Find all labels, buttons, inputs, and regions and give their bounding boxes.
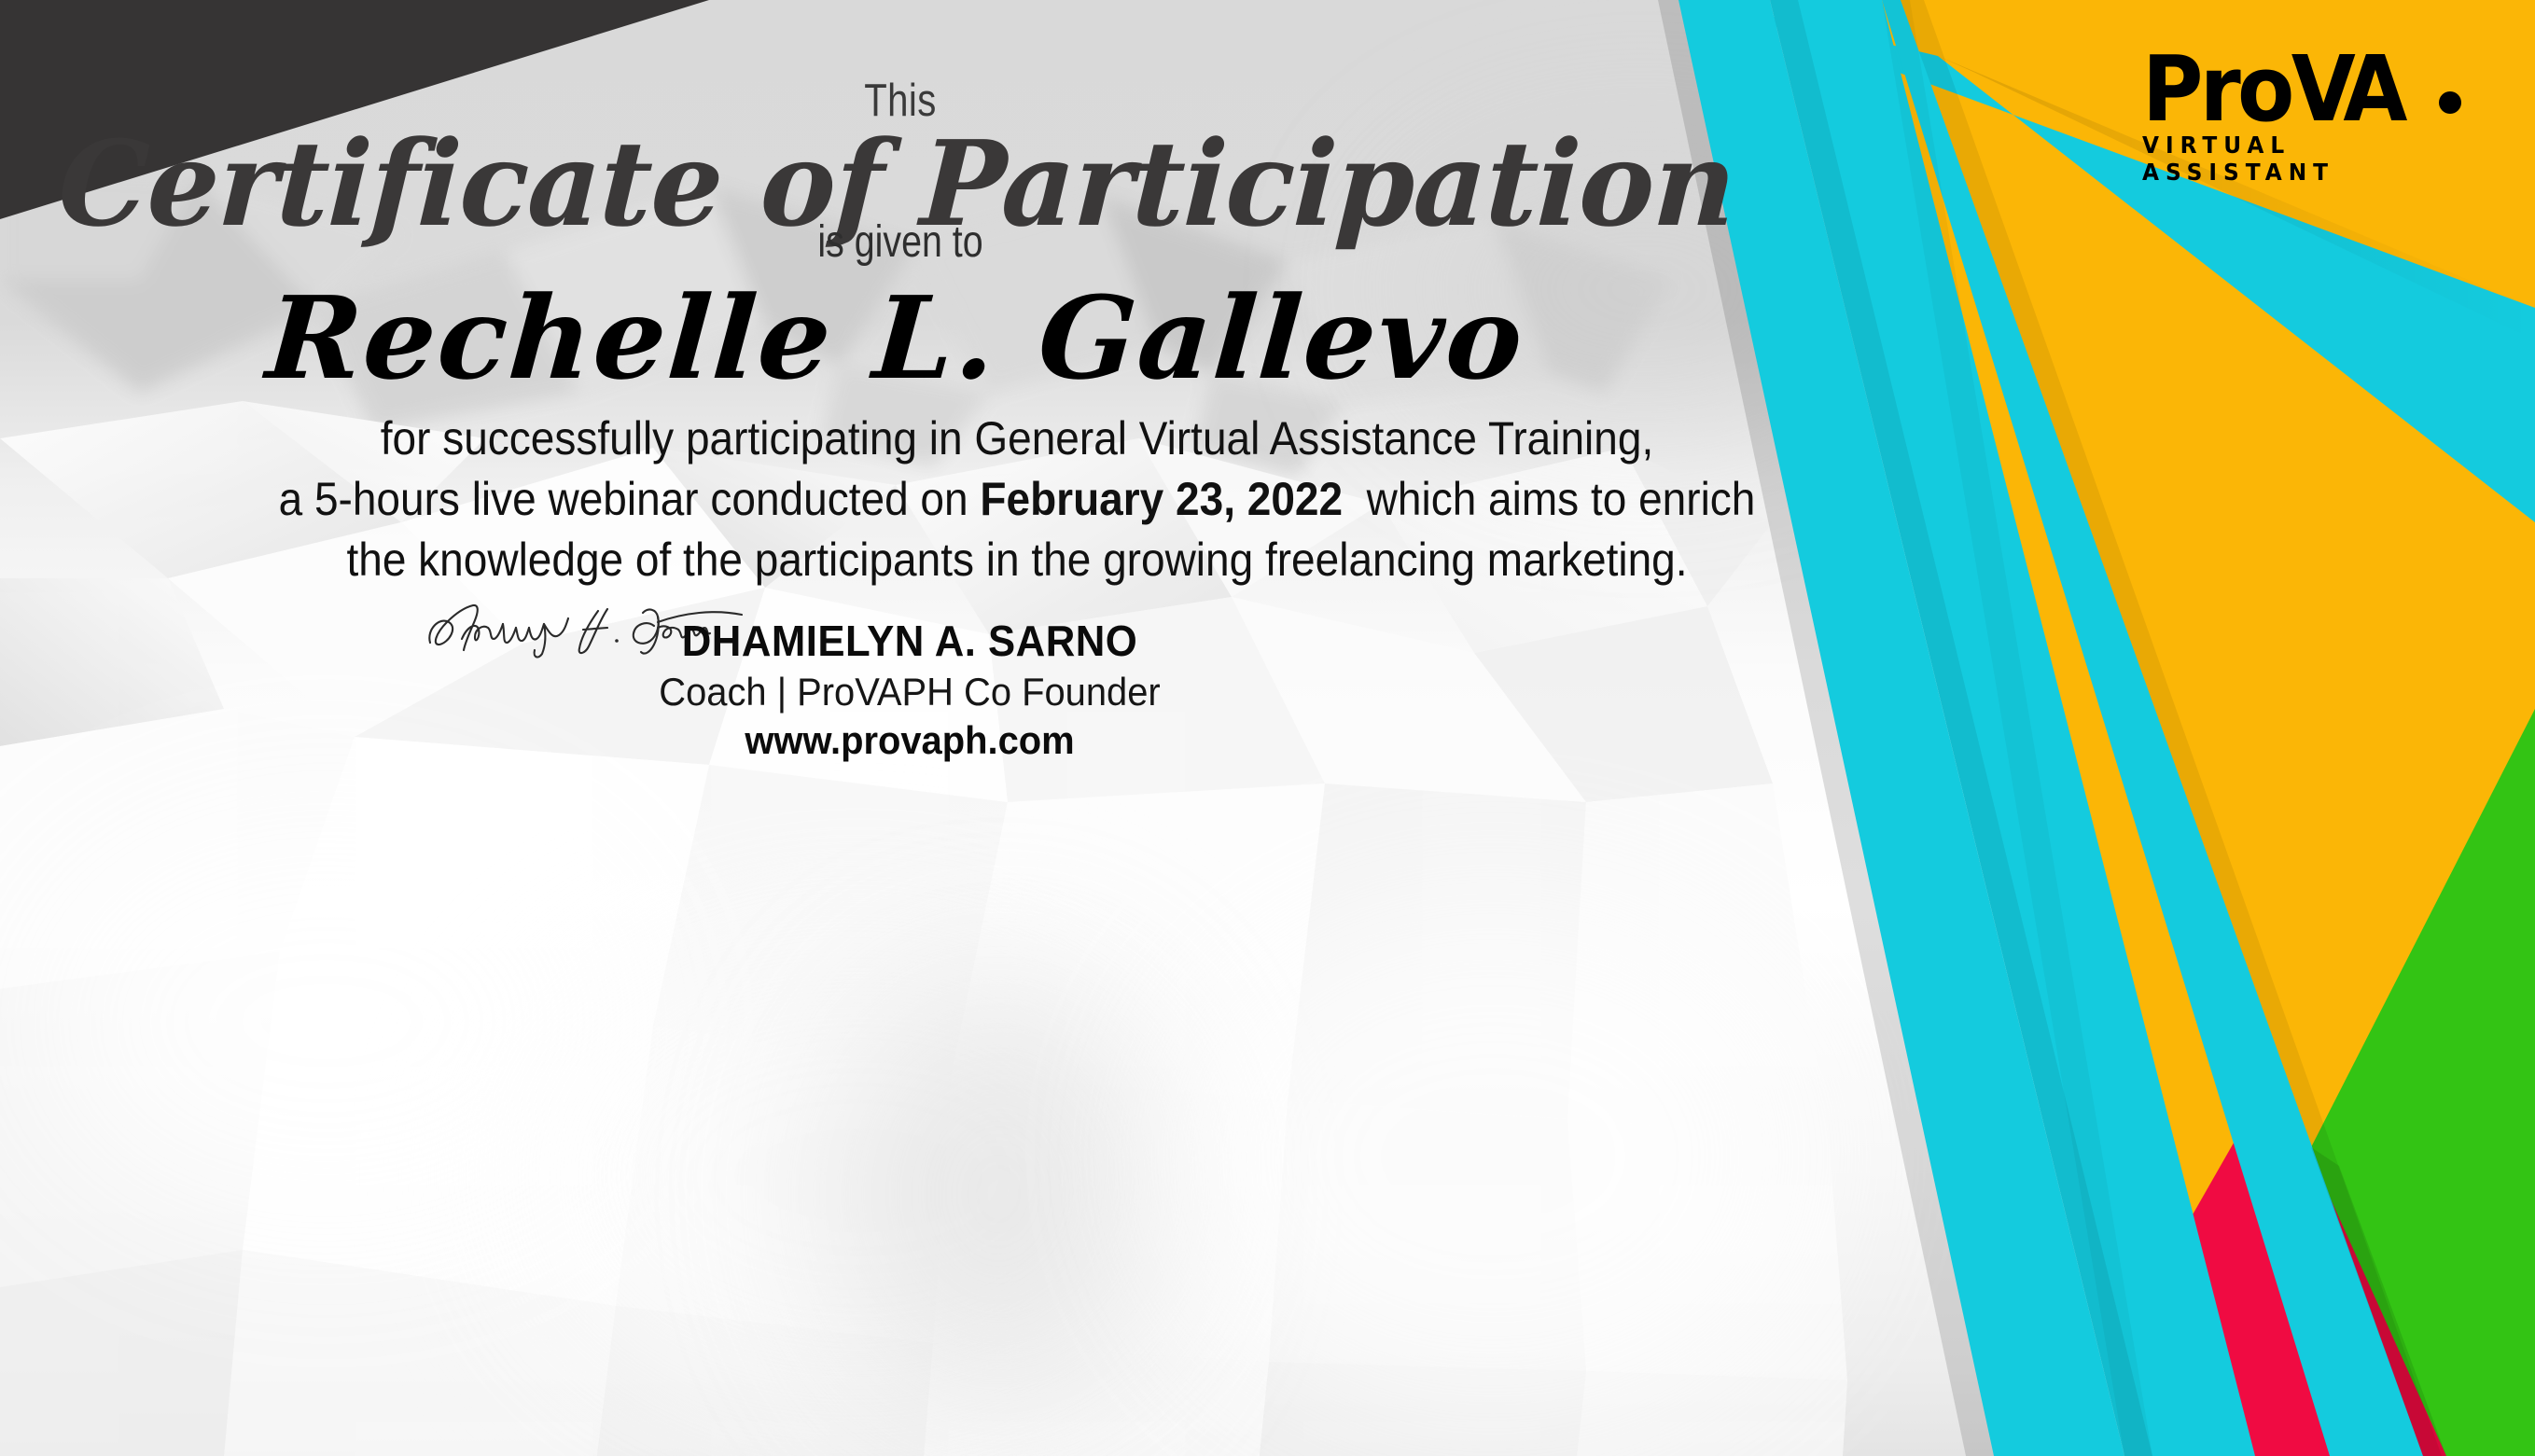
- certificate-body: for successfully participating in Genera…: [99, 409, 1936, 590]
- signatory-name: DHAMIELYN A. SARNO: [320, 616, 1499, 666]
- certificate-content: This Certificate of Participation is giv…: [0, 0, 2535, 1456]
- body-line-3: the knowledge of the participants in the…: [99, 530, 1936, 590]
- website-url: www.provaph.com: [320, 718, 1499, 763]
- body-line-2-after: which aims to enrich: [1367, 473, 1756, 525]
- certificate-canvas: ProVA VIRTUAL ASSISTANT This Certificate…: [0, 0, 2535, 1456]
- given-to-label: is given to: [162, 216, 1639, 268]
- signature-block: DHAMIELYN A. SARNO Coach | ProVAPH Co Fo…: [289, 616, 1530, 763]
- signatory-role: Coach | ProVAPH Co Founder: [320, 670, 1499, 714]
- recipient-name: Rechelle L. Gallevo: [0, 270, 1801, 405]
- body-line-2: a 5-hours live webinar conducted on Febr…: [99, 469, 1936, 530]
- body-line-1: for successfully participating in Genera…: [99, 409, 1936, 469]
- body-line-2-before: a 5-hours live webinar conducted on: [279, 473, 968, 525]
- event-date: February 23, 2022: [980, 473, 1343, 525]
